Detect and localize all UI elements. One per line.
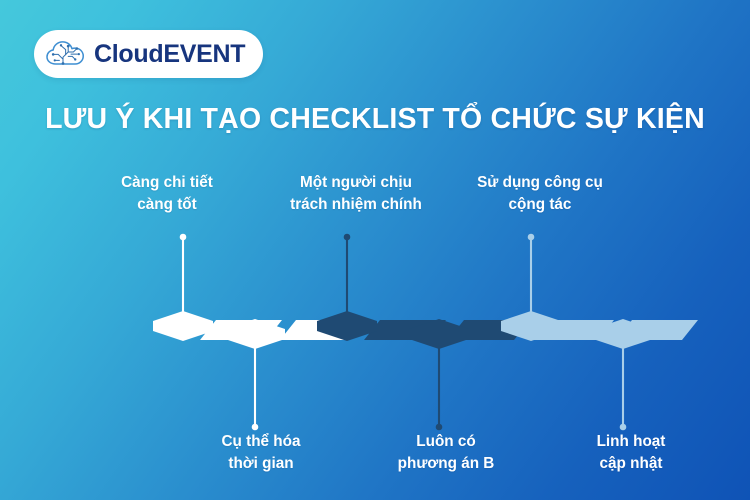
node-label-su-dung-cong-cu: Sử dụng công cụ cộng tác: [440, 172, 640, 216]
node-label-mot-nguoi-chiu-trach-nhiem: Một người chịu trách nhiệm chính: [256, 172, 456, 216]
connector-dot-node-3: [344, 234, 351, 241]
connector-dot-node-6: [620, 424, 627, 431]
connector-dot-node-4: [436, 424, 443, 431]
connector-dot-node-1: [180, 234, 187, 241]
node-label-luon-co-phuong-an-b: Luôn có phương án B: [346, 431, 546, 475]
connector-dot-node-5: [528, 234, 535, 241]
connector-dot-node-2: [252, 424, 259, 431]
node-label-cang-chi-tiet: Càng chi tiết càng tốt: [67, 172, 267, 216]
node-label-linh-hoat-cap-nhat: Linh hoạt cập nhật: [531, 431, 731, 475]
hexagon-chain-diagram: [0, 0, 750, 500]
node-label-cu-the-hoa-thoi-gian: Cụ thể hóa thời gian: [161, 431, 361, 475]
